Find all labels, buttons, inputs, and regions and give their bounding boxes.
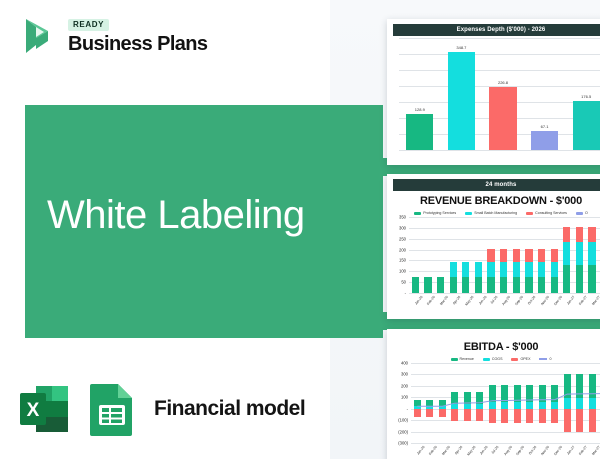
bar-segment <box>487 249 494 261</box>
bar-column: 226.8 <box>489 38 516 150</box>
bar-segment <box>551 262 558 277</box>
y-axis-tick: 200 <box>399 247 409 252</box>
ebitda-card[interactable]: EBITDA - $'000 RevenueCOGSOPEX0 40030020… <box>387 329 600 459</box>
y-axis-tick: 400 <box>401 361 411 366</box>
x-axis-tick: Feb-26 <box>427 295 437 306</box>
revenue-chart-title: REVENUE BREAKDOWN - $'000 <box>387 195 600 207</box>
legend-label: OPEX <box>520 357 530 361</box>
bar-segment <box>538 277 545 293</box>
x-axis-tick: Jan-26 <box>416 445 426 456</box>
bar-segment <box>576 265 583 293</box>
legend-item: Revenue <box>451 357 474 361</box>
bar-value-label: 67.1 <box>541 124 549 129</box>
legend-swatch <box>526 212 533 215</box>
bar-column <box>475 217 482 293</box>
legend-swatch <box>576 212 583 215</box>
legend-label: Prototyping Services <box>423 211 456 215</box>
ebitda-chart-title: EBITDA - $'000 <box>387 341 600 353</box>
play-arrow-logo-icon <box>14 14 58 58</box>
file-format-row: X Financial model <box>16 381 305 437</box>
x-axis-tick: Oct-26 <box>527 295 536 305</box>
legend-swatch <box>539 358 547 360</box>
bar-segment <box>551 249 558 261</box>
bar-segment <box>487 262 494 277</box>
x-axis-tick: Nov-26 <box>540 295 550 306</box>
x-axis-tick: Jul-26 <box>491 445 500 455</box>
bar-segment <box>489 87 516 151</box>
slide-canvas: READY Business Plans White Labeling X <box>0 0 600 459</box>
bar-group <box>409 217 600 293</box>
bar-segment <box>538 262 545 277</box>
x-axis-tick: Dec-26 <box>553 295 563 306</box>
legend-swatch <box>511 358 518 361</box>
legend-label: O <box>585 211 588 215</box>
y-axis-tick: (100) <box>398 418 411 423</box>
legend-label: Small Batch Manufacturing <box>474 211 517 215</box>
bar-column <box>500 217 507 293</box>
legend-swatch <box>451 358 458 361</box>
bar-segment <box>437 277 444 293</box>
revenue-breakdown-card[interactable]: 24 months REVENUE BREAKDOWN - $'000 Prot… <box>387 174 600 319</box>
bar-segment <box>573 101 600 150</box>
x-axis-tick: Jan-27 <box>566 445 576 456</box>
bar-segment <box>450 262 457 277</box>
x-axis-tick: Feb-26 <box>428 445 438 456</box>
bar-segment <box>513 277 520 293</box>
bar-segment <box>588 242 595 265</box>
bar-segment <box>500 249 507 261</box>
ready-badge: READY <box>68 19 109 31</box>
bar-segment <box>462 277 469 293</box>
x-axis-tick: Mar-26 <box>439 295 449 306</box>
hero-block: White Labeling <box>25 105 383 338</box>
legend-item: OPEX <box>511 357 530 361</box>
legend-item: Consulting Services <box>526 211 567 215</box>
bar-segment <box>576 242 583 265</box>
bar-segment <box>513 262 520 277</box>
y-axis-tick: (300) <box>398 441 411 446</box>
bar-column <box>538 217 545 293</box>
bar-column: 67.1 <box>531 38 558 150</box>
legend-swatch <box>483 358 490 361</box>
bar-group: 128.9348.7226.867.1176.5 <box>399 38 600 150</box>
bar-segment <box>551 277 558 293</box>
bar-column: 176.5 <box>573 38 600 150</box>
bar-segment <box>525 249 532 261</box>
bar-segment <box>450 277 457 293</box>
legend-label: 0 <box>549 357 551 361</box>
bar-column <box>576 217 583 293</box>
bar-value-label: 128.9 <box>415 107 425 112</box>
ebitda-chart-legend: RevenueCOGSOPEX0 <box>387 357 600 361</box>
legend-swatch <box>414 212 421 215</box>
bar-segment <box>475 262 482 277</box>
brand-lockup: READY Business Plans <box>14 14 207 58</box>
bar-segment <box>500 277 507 293</box>
bar-segment <box>406 114 433 150</box>
bar-segment <box>588 265 595 293</box>
bar-segment <box>525 262 532 277</box>
bar-column <box>487 217 494 293</box>
x-axis-tick: Jun-26 <box>478 295 488 306</box>
microsoft-excel-icon: X <box>16 381 72 437</box>
bar-segment <box>531 131 558 150</box>
legend-item: 0 <box>539 357 551 361</box>
legend-label: Consulting Services <box>535 211 567 215</box>
y-axis-tick: (200) <box>398 429 411 434</box>
bar-value-label: 176.5 <box>581 94 591 99</box>
legend-item: O <box>576 211 588 215</box>
expenses-depth-card[interactable]: Expenses Depth ($'000) - 2026 128.9348.7… <box>387 19 600 165</box>
y-axis-tick: 350 <box>399 215 409 220</box>
x-axis-tick: Aug-26 <box>503 445 513 456</box>
y-axis-tick: 100 <box>401 395 411 400</box>
bar-value-label: 348.7 <box>456 45 466 50</box>
bar-segment <box>563 265 570 293</box>
legend-item: Prototyping Services <box>414 211 456 215</box>
revenue-chart-legend: Prototyping ServicesSmall Batch Manufact… <box>387 211 600 215</box>
x-axis-tick: Mar-26 <box>441 445 451 456</box>
x-axis-tick: Jan-27 <box>566 295 576 306</box>
x-axis-tick: Apr-26 <box>454 445 463 455</box>
x-axis-tick: Jan-26 <box>414 295 424 306</box>
ebitda-trend-line <box>411 363 600 443</box>
x-axis-tick: Feb-27 <box>578 295 588 306</box>
x-axis-tick: Feb-27 <box>579 445 589 456</box>
bar-column <box>513 217 520 293</box>
bar-segment <box>475 277 482 293</box>
y-axis-tick: 100 <box>399 269 409 274</box>
x-axis-tick: Mar-27 <box>591 295 600 306</box>
x-axis-tick: Sep-26 <box>516 445 526 456</box>
y-axis-tick: 300 <box>399 225 409 230</box>
bar-segment <box>576 227 583 243</box>
x-axis-tick: Mar-27 <box>591 445 600 456</box>
revenue-period-banner: 24 months <box>393 179 600 191</box>
y-axis-tick: 50 <box>401 280 409 285</box>
bar-segment <box>500 262 507 277</box>
bar-segment <box>412 277 419 293</box>
bar-column <box>437 217 444 293</box>
bar-segment <box>525 277 532 293</box>
y-axis-tick: 150 <box>399 258 409 263</box>
x-axis-tick: Apr-26 <box>452 295 461 305</box>
bar-segment <box>563 227 570 243</box>
bar-column: 348.7 <box>448 38 475 150</box>
x-axis-tick: Sep-26 <box>515 295 525 306</box>
x-axis-tick: Nov-26 <box>541 445 551 456</box>
x-axis-labels: Jan-26Feb-26Mar-26Apr-26May-26Jun-26Jul-… <box>409 293 600 299</box>
x-axis-tick: Dec-26 <box>553 445 563 456</box>
expenses-chart-title: Expenses Depth ($'000) - 2026 <box>393 24 600 36</box>
bar-column <box>563 217 570 293</box>
x-axis-tick: Aug-26 <box>502 295 512 306</box>
bar-column <box>450 217 457 293</box>
legend-swatch <box>465 212 472 215</box>
google-sheets-icon <box>86 381 138 437</box>
bar-column: 128.9 <box>406 38 433 150</box>
x-axis-tick: Oct-26 <box>528 445 537 455</box>
x-axis-tick: May-26 <box>466 445 476 456</box>
bar-value-label: 226.8 <box>498 80 508 85</box>
bar-column <box>462 217 469 293</box>
brand-name: Business Plans <box>68 34 207 54</box>
bar-segment <box>588 227 595 243</box>
bar-segment <box>513 249 520 261</box>
bar-column <box>412 217 419 293</box>
legend-label: Revenue <box>460 357 474 361</box>
bar-column <box>588 217 595 293</box>
bar-segment <box>563 242 570 265</box>
bar-column <box>551 217 558 293</box>
x-axis-tick: Jul-26 <box>490 295 499 305</box>
y-axis-tick: 200 <box>401 383 411 388</box>
bar-segment <box>487 277 494 293</box>
bar-segment <box>448 52 475 150</box>
x-axis-tick: May-26 <box>465 295 475 306</box>
page-title: White Labeling <box>47 193 305 238</box>
bar-segment <box>538 249 545 261</box>
y-axis-tick: 250 <box>399 236 409 241</box>
bar-segment <box>424 277 431 293</box>
legend-item: COGS <box>483 357 503 361</box>
bar-column <box>525 217 532 293</box>
gridline <box>399 150 600 151</box>
bar-segment <box>462 262 469 277</box>
x-axis-labels: Jan-26Feb-26Mar-26Apr-26May-26Jun-26Jul-… <box>411 443 600 449</box>
bar-column <box>424 217 431 293</box>
legend-item: Small Batch Manufacturing <box>465 211 517 215</box>
x-axis-tick: Jun-26 <box>479 445 489 456</box>
file-format-label: Financial model <box>154 397 305 421</box>
y-axis-tick: 300 <box>401 372 411 377</box>
svg-text:X: X <box>27 400 40 421</box>
legend-label: COGS <box>492 357 503 361</box>
